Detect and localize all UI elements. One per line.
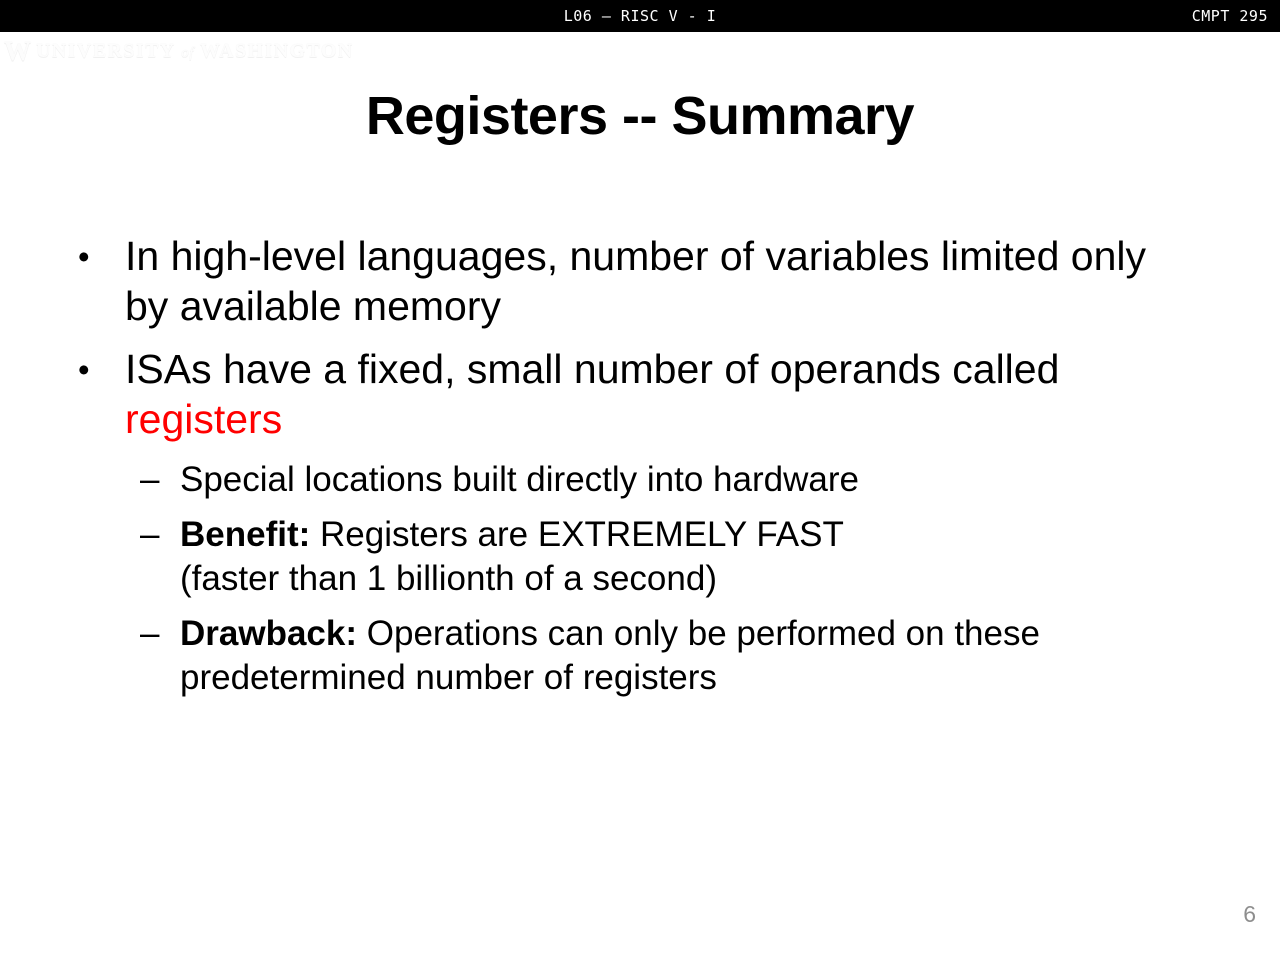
slide-header-bar: L06 – RISC V - I CMPT 295: [0, 0, 1280, 32]
uw-wordmark: UNIVERSITY of WASHINGTON: [36, 41, 354, 61]
uw-wordmark-of: of: [181, 45, 194, 61]
course-code: CMPT 295: [1192, 7, 1268, 25]
uw-wordmark-location: WASHINGTON: [200, 40, 354, 62]
slide-body: • In high-level languages, number of var…: [0, 232, 1280, 711]
uw-wordmark-university: UNIVERSITY: [36, 40, 175, 62]
bullet-marker-icon: •: [78, 232, 90, 282]
bullet-item: • ISAs have a fixed, small number of ope…: [0, 345, 1280, 444]
bullet-text: In high-level languages, number of varia…: [125, 233, 1146, 329]
sub-bullet-label: Drawback:: [180, 614, 357, 653]
sub-bullet-text-line2: (faster than 1 billionth of a second): [180, 559, 717, 598]
page-number: 6: [1243, 901, 1256, 928]
dash-marker-icon: –: [140, 612, 159, 656]
bullet-item: • In high-level languages, number of var…: [0, 232, 1280, 331]
sub-bullet-label: Benefit:: [180, 515, 310, 554]
uw-logo-watermark: W UNIVERSITY of WASHINGTON: [4, 36, 354, 66]
sub-bullet-item: – Special locations built directly into …: [0, 458, 1280, 502]
sub-bullet-item: – Drawback: Operations can only be perfo…: [0, 612, 1280, 701]
dash-marker-icon: –: [140, 513, 159, 557]
sub-bullet-text: Registers are EXTREMELY FAST: [310, 515, 844, 554]
dash-marker-icon: –: [140, 458, 159, 502]
lecture-title: L06 – RISC V - I: [0, 7, 1280, 25]
sub-bullet-item: – Benefit: Registers are EXTREMELY FAST(…: [0, 513, 1280, 602]
bullet-marker-icon: •: [78, 345, 90, 395]
page-title: Registers -- Summary: [0, 88, 1280, 145]
bullet-text: ISAs have a fixed, small number of opera…: [125, 346, 1059, 392]
bullet-text-highlight: registers: [125, 396, 282, 442]
uw-w-mark-icon: W: [4, 38, 28, 65]
sub-bullet-text: Special locations built directly into ha…: [180, 460, 859, 499]
